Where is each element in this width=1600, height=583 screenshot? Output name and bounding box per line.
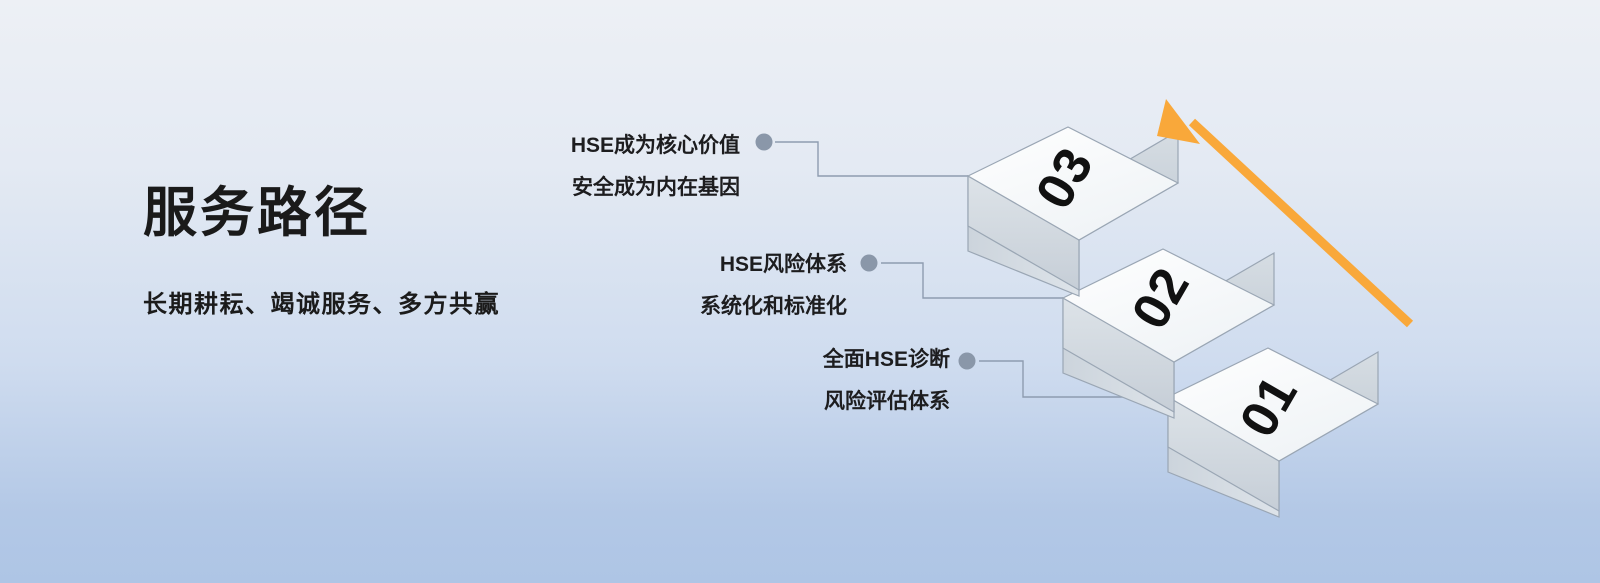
connector-03-line <box>775 142 968 176</box>
connector-03 <box>756 134 969 177</box>
connector-03-dot <box>756 134 773 151</box>
staircase-diagram: 01 02 03 <box>0 0 1600 583</box>
slide-canvas: 服务路径 长期耕耘、竭诚服务、多方共赢 HSE成为核心价值 安全成为内在基因 H… <box>0 0 1600 583</box>
connector-01-dot <box>959 353 976 370</box>
connector-02-dot <box>861 255 878 272</box>
step-block-01[interactable]: 01 <box>1168 348 1378 517</box>
